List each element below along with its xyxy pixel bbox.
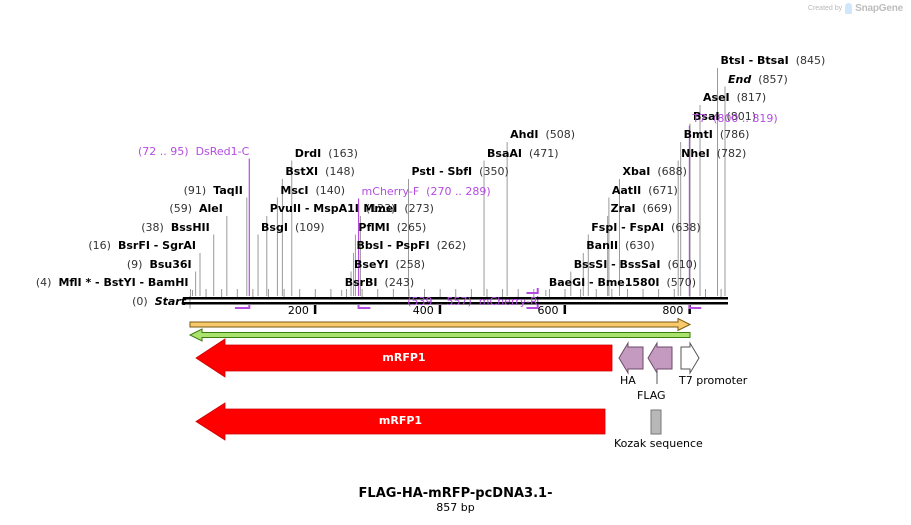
enzyme-label: ZraI (669) — [611, 203, 673, 215]
enzyme-name: BsgI — [261, 221, 288, 234]
enzyme-label: (9) Bsu36I — [0, 259, 192, 271]
enzyme-name: BssHII — [171, 221, 210, 234]
enzyme-label: BaeGI - Bme1580I (570) — [549, 277, 696, 289]
enzyme-position: (109) — [295, 221, 325, 234]
plasmid-length: 857 bp — [0, 501, 911, 514]
enzyme-position: (671) — [648, 184, 678, 197]
enzyme-position: (4) — [36, 276, 52, 289]
enzyme-label: BstXI (148) — [285, 166, 354, 178]
enzyme-label: FspI - FspAI (638) — [591, 222, 700, 234]
enzyme-name: BmtI — [684, 128, 713, 141]
enzyme-label: AatII (671) — [612, 185, 678, 197]
enzyme-name: PflMI — [358, 221, 389, 234]
enzyme-position: (638) — [671, 221, 701, 234]
ruler-tick-200: 200 — [288, 304, 309, 317]
enzyme-label: BssSI - BssSaI (610) — [574, 259, 697, 271]
cds-mrfp1-bottom-label: mRFP1 — [196, 414, 605, 427]
primer-name: mCherry-F — [362, 185, 420, 198]
enzyme-name: BsrBI — [345, 276, 378, 289]
enzyme-position: (817) — [737, 91, 767, 104]
enzyme-position: (630) — [625, 239, 655, 252]
primer-label: mCherry-F (270 .. 289) — [362, 186, 491, 198]
misc-kozak-label: Kozak sequence — [614, 437, 703, 450]
primer-position: (800 .. 819) — [713, 112, 778, 125]
enzyme-label: BsgI (109) — [261, 222, 325, 234]
enzyme-position: (59) — [169, 202, 192, 215]
enzyme-label: End (857) — [728, 74, 788, 86]
orf-forward-arrow — [190, 319, 690, 331]
primer-label: (539 .. 557) mCherry-R — [238, 296, 538, 308]
tag-ha — [619, 343, 643, 373]
enzyme-name: DrdI — [295, 147, 322, 160]
enzyme-position: (610) — [667, 258, 697, 271]
enzyme-position: (786) — [720, 128, 750, 141]
primer-name: DsRed1-C — [196, 145, 250, 158]
enzyme-name: End — [728, 73, 751, 86]
enzyme-position: (273) — [404, 202, 434, 215]
tag-ha-label: HA — [620, 374, 636, 387]
enzyme-name: AseI — [703, 91, 730, 104]
enzyme-label: (91) TaqII — [0, 185, 243, 197]
enzyme-position: (508) — [545, 128, 575, 141]
enzyme-label: AseI (817) — [703, 92, 766, 104]
ruler-tick-800: 800 — [662, 304, 683, 317]
enzyme-name: BbsI - PspFI — [357, 239, 430, 252]
enzyme-position: (471) — [529, 147, 559, 160]
enzyme-name: BstXI — [285, 165, 318, 178]
enzyme-position: (140) — [316, 184, 346, 197]
enzyme-name: Bsu36I — [149, 258, 191, 271]
enzyme-name: Start — [155, 295, 186, 308]
enzyme-position: (265) — [397, 221, 427, 234]
enzyme-name: BssSI - BssSaI — [574, 258, 661, 271]
enzyme-position: (350) — [479, 165, 509, 178]
enzyme-label: BseYI (258) — [354, 259, 425, 271]
enzyme-label: AhdI (508) — [510, 129, 575, 141]
enzyme-name: BaeGI - Bme1580I — [549, 276, 660, 289]
enzyme-name: BsrFI - SgrAI — [118, 239, 196, 252]
enzyme-position: (91) — [184, 184, 207, 197]
enzyme-label: DrdI (163) — [295, 148, 358, 160]
enzyme-name: ZraI — [611, 202, 636, 215]
enzyme-name: TaqII — [213, 184, 243, 197]
enzyme-label: NheI (782) — [681, 148, 746, 160]
enzyme-position: (570) — [666, 276, 696, 289]
enzyme-label: (59) AleI — [0, 203, 223, 215]
plasmid-name: FLAG-HA-mRFP-pcDNA3.1- — [0, 486, 911, 501]
enzyme-position: (669) — [643, 202, 673, 215]
ruler-tick-400: 400 — [413, 304, 434, 317]
enzyme-label: MscI (140) — [280, 185, 345, 197]
promoter-t7 — [681, 343, 699, 373]
primer-label: T7 (800 .. 819) — [692, 113, 777, 125]
enzyme-label: PflMI (265) — [358, 222, 426, 234]
enzyme-label: (38) BssHII — [0, 222, 210, 234]
enzyme-name: PvuII - MspA1I — [270, 202, 359, 215]
enzyme-position: (148) — [325, 165, 355, 178]
enzyme-label: BsaAI (471) — [487, 148, 559, 160]
enzyme-name: MscI — [280, 184, 308, 197]
enzyme-position: (38) — [141, 221, 164, 234]
primer-position: (270 .. 289) — [426, 185, 491, 198]
enzyme-position: (0) — [132, 295, 148, 308]
enzyme-label: MmeI (273) — [363, 203, 434, 215]
enzyme-name: MflI * - BstYI - BamHI — [58, 276, 188, 289]
orf-reverse-arrow — [190, 329, 690, 341]
primer-name: T7 — [692, 112, 706, 125]
enzyme-name: BsaAI — [487, 147, 522, 160]
enzyme-position: (845) — [796, 54, 826, 67]
enzyme-position: (163) — [328, 147, 358, 160]
enzyme-label: (16) BsrFI - SgrAI — [0, 240, 196, 252]
enzyme-name: BseYI — [354, 258, 388, 271]
enzyme-label: BanII (630) — [586, 240, 654, 252]
primer-name: mCherry-R — [479, 295, 538, 308]
enzyme-label: PstI - SbfI (350) — [411, 166, 508, 178]
enzyme-position: (857) — [758, 73, 788, 86]
enzyme-position: (782) — [717, 147, 747, 160]
enzyme-name: BtsI - BtsaI — [721, 54, 789, 67]
enzyme-position: (16) — [88, 239, 111, 252]
primer-position: (72 .. 95) — [138, 145, 189, 158]
enzyme-name: AleI — [199, 202, 223, 215]
enzyme-name: FspI - FspAI — [591, 221, 664, 234]
enzyme-label: (4) MflI * - BstYI - BamHI — [0, 277, 189, 289]
ruler-tick-600: 600 — [538, 304, 559, 317]
primer-label: (72 .. 95) DsRed1-C — [0, 146, 249, 158]
enzyme-label: BbsI - PspFI (262) — [357, 240, 467, 252]
tag-flag-label: FLAG — [637, 389, 666, 402]
tag-flag — [648, 343, 672, 373]
enzyme-name: PstI - SbfI — [411, 165, 472, 178]
enzyme-name: MmeI — [363, 202, 397, 215]
enzyme-label: (0) Start — [0, 296, 186, 308]
enzyme-position: (262) — [437, 239, 467, 252]
enzyme-name: AhdI — [510, 128, 538, 141]
enzyme-name: BanII — [586, 239, 618, 252]
enzyme-label: BsrBI (243) — [345, 277, 414, 289]
enzyme-name: XbaI — [622, 165, 650, 178]
cds-mrfp1-top-label: mRFP1 — [196, 351, 612, 364]
enzyme-position: (9) — [127, 258, 143, 271]
enzyme-name: NheI — [681, 147, 710, 160]
page-title: FLAG-HA-mRFP-pcDNA3.1- 857 bp — [0, 486, 911, 514]
enzyme-position: (258) — [396, 258, 426, 271]
enzyme-label: XbaI (688) — [622, 166, 686, 178]
enzyme-label: BtsI - BtsaI (845) — [721, 55, 826, 67]
enzyme-label: BmtI (786) — [684, 129, 750, 141]
promoter-t7-label: T7 promoter — [679, 374, 747, 387]
enzyme-name: AatII — [612, 184, 641, 197]
enzyme-position: (688) — [657, 165, 687, 178]
misc-kozak — [651, 410, 661, 434]
enzyme-position: (243) — [385, 276, 415, 289]
